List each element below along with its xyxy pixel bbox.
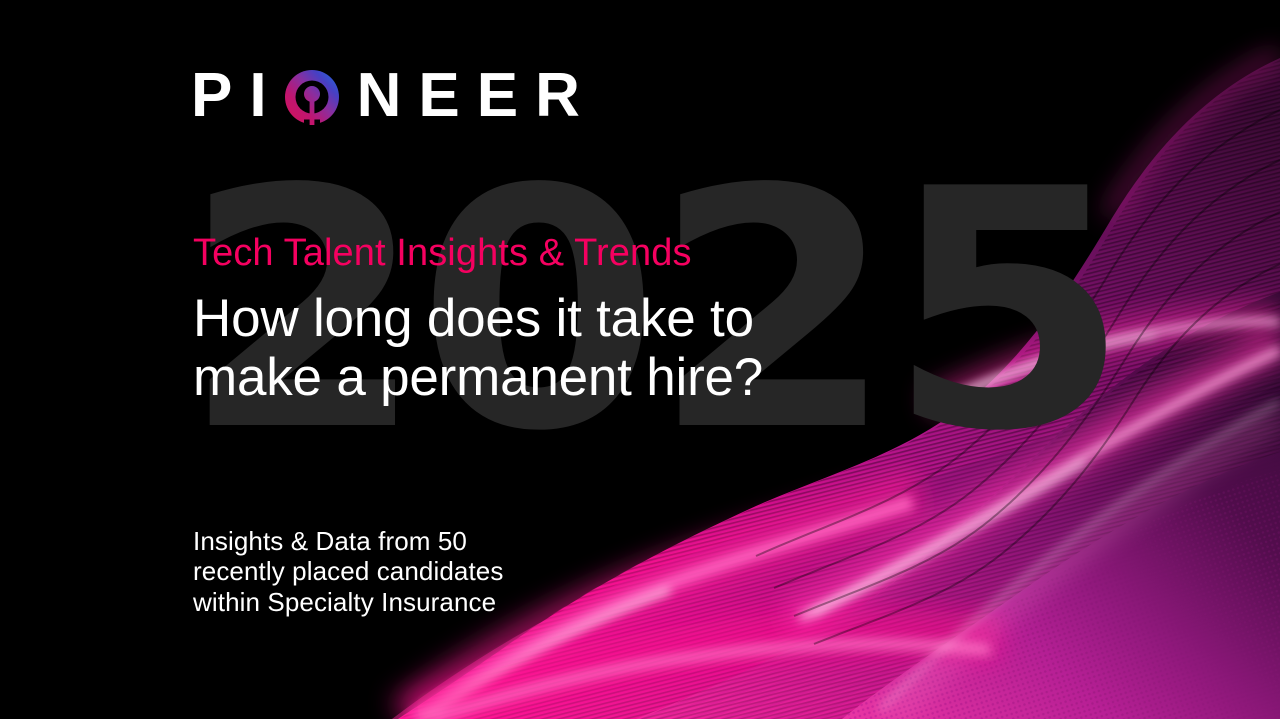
logo-letter-e2: E: [477, 65, 535, 127]
logo-letter-i: I: [249, 65, 283, 127]
headline-line-2: make a permanent hire?: [193, 348, 793, 407]
logo-letter-e1: E: [418, 65, 476, 127]
eyebrow-label: Tech Talent Insights & Trends: [193, 232, 893, 275]
headline-line-1: How long does it take to: [193, 289, 793, 348]
subtitle-block: Insights & Data from 50 recently placed …: [193, 526, 503, 617]
page-title: How long does it take to make a permanen…: [193, 289, 793, 408]
presentation-slide: 2025 PI: [0, 0, 1280, 719]
headline-block: Tech Talent Insights & Trends How long d…: [193, 232, 893, 407]
subcopy-line-3: within Specialty Insurance: [193, 587, 503, 617]
subcopy-line-1: Insights & Data from 50: [193, 526, 503, 556]
pioneer-logo[interactable]: PI: [191, 60, 597, 132]
logo-letter-r: R: [535, 65, 597, 127]
pioneer-o-mark-icon: [284, 69, 340, 125]
logo-letter-p: P: [191, 65, 249, 127]
logo-wordmark: PI: [191, 65, 597, 127]
logo-letter-n: N: [357, 65, 419, 127]
subcopy-line-2: recently placed candidates: [193, 556, 503, 586]
